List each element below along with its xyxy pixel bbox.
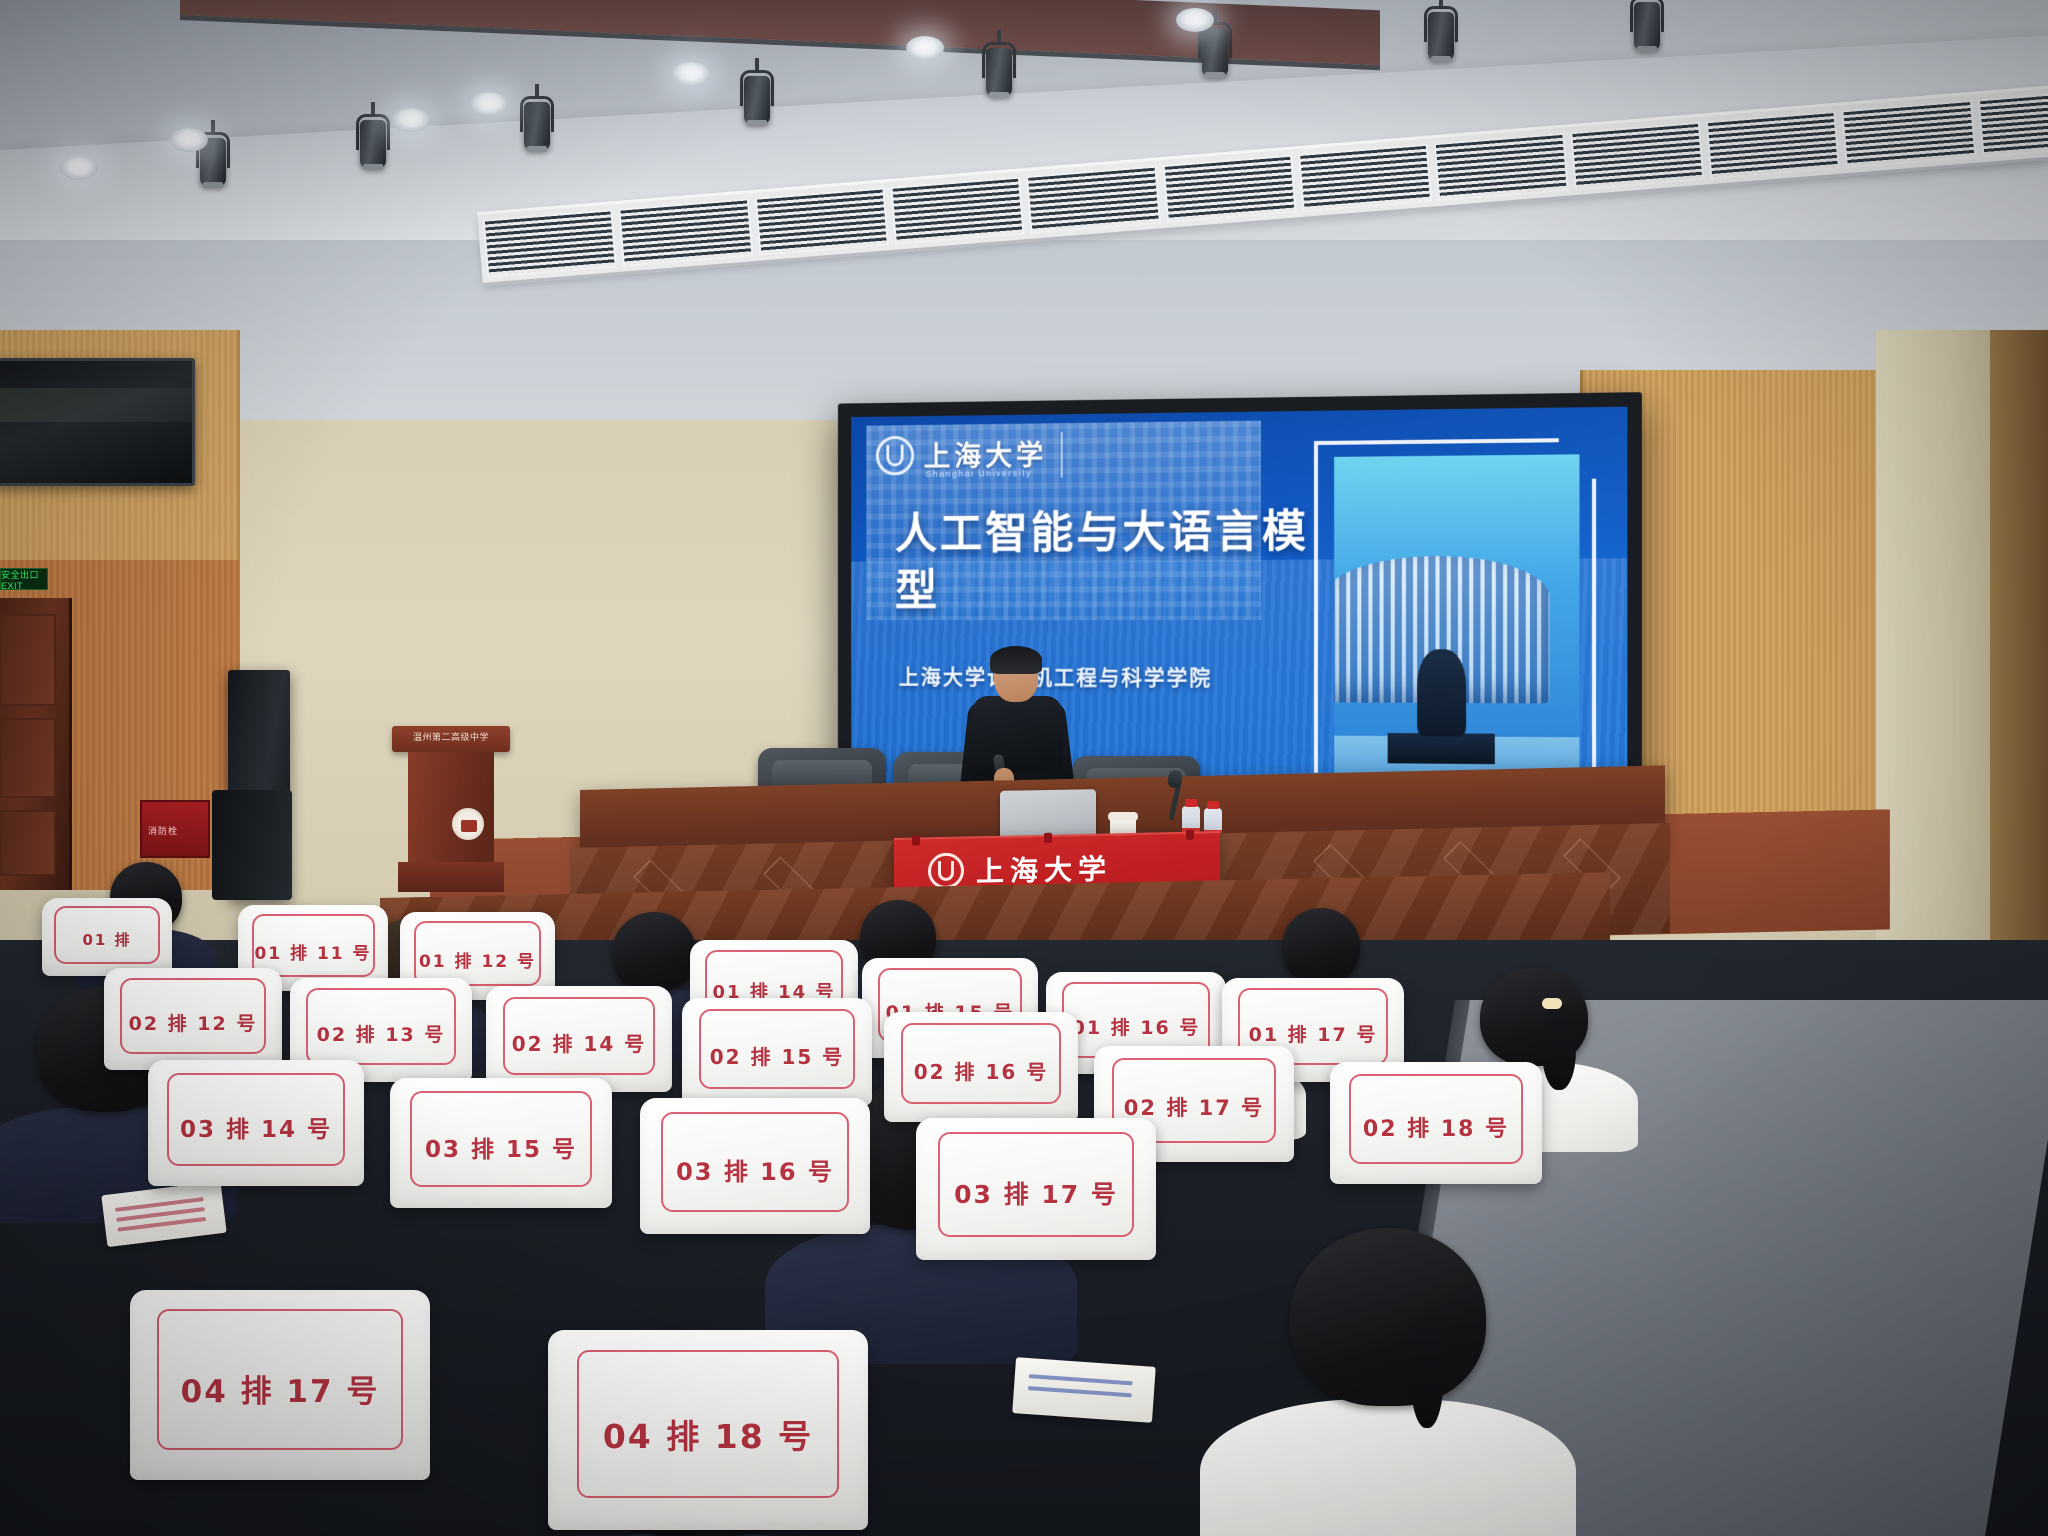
seat-number-label: 02 排 15 号 (682, 1041, 872, 1070)
audience-person (612, 912, 696, 992)
auditorium-seat[interactable]: 03 排 14 号 (148, 1060, 364, 1186)
stage-spotlight-icon (1630, 0, 1664, 54)
audience-person (1282, 908, 1360, 984)
auditorium-seat[interactable]: 04 排 18 号 (548, 1330, 868, 1530)
ceiling-downlight-icon (470, 92, 508, 116)
lectern: 温州第二高级中学 (392, 726, 510, 896)
seat-cover: 03 排 17 号 (916, 1118, 1156, 1260)
pa-subwoofer (212, 790, 292, 900)
stage-spotlight-icon (520, 92, 554, 154)
shanghai-university-logo-icon (876, 436, 914, 476)
ceiling-downlight-icon (672, 62, 710, 86)
auditorium-seat[interactable]: 02 排 18 号 (1330, 1062, 1542, 1184)
seat-number-label: 03 排 15 号 (390, 1130, 612, 1164)
stage-spotlight-icon (982, 38, 1016, 100)
auditorium-seat[interactable]: 02 排 14 号 (486, 986, 672, 1092)
slide-title: 人工智能与大语言模型 (895, 503, 1316, 620)
ceiling-downlight-icon (1176, 8, 1214, 32)
right-far-wall (1990, 330, 2048, 1030)
seat-number-label: 02 排 14 号 (486, 1028, 672, 1057)
seat-cover: 02 排 15 号 (682, 998, 872, 1106)
auditorium-seat[interactable]: 03 排 16 号 (640, 1098, 870, 1234)
auditorium-seat[interactable]: 02 排 15 号 (682, 998, 872, 1106)
ceiling-downlight-icon (60, 156, 98, 180)
ceiling-downlight-icon (392, 108, 430, 132)
stage-spotlight-icon (356, 110, 390, 172)
seat-number-label: 01 排 17 号 (1222, 1020, 1404, 1047)
auditorium-seat[interactable]: 04 排 17 号 (130, 1290, 430, 1480)
school-emblem-icon (452, 808, 484, 840)
seat-cover: 02 排 16 号 (884, 1012, 1078, 1122)
seat-cover: 04 排 17 号 (130, 1290, 430, 1480)
fire-hose-cabinet: 消防栓 (140, 800, 210, 858)
stage-spotlight-icon (740, 66, 774, 128)
auditorium-seat[interactable]: 03 排 17 号 (916, 1118, 1156, 1260)
seat-number-label: 02 排 16 号 (884, 1056, 1078, 1085)
seat-cover: 03 排 15 号 (390, 1078, 612, 1208)
lectern-school-name: 温州第二高级中学 (400, 730, 502, 743)
seat-cover: 03 排 14 号 (148, 1060, 364, 1186)
slide-org-name-en: Shanghai University (926, 468, 1032, 479)
seat-number-label: 01 排 11 号 (238, 939, 388, 964)
wall-monitor-display (0, 358, 195, 486)
right-pillar (1876, 330, 1996, 1030)
seat-number-label: 02 排 18 号 (1330, 1111, 1542, 1143)
ceiling-downlight-icon (906, 36, 944, 60)
seat-cover: 04 排 18 号 (548, 1330, 868, 1530)
seat-number-label: 02 排 13 号 (290, 1020, 472, 1047)
seat-number-label: 01 排 12 号 (400, 947, 555, 972)
seat-number-label: 03 排 14 号 (148, 1110, 364, 1144)
handout-paper (1012, 1357, 1156, 1423)
seat-cover: 02 排 12 号 (104, 968, 282, 1070)
seat-number-label: 02 排 12 号 (104, 1009, 282, 1036)
seat-number-label: 03 排 17 号 (916, 1175, 1156, 1211)
ceiling-downlight-icon (170, 128, 208, 152)
seat-cover: 03 排 16 号 (640, 1098, 870, 1234)
auditorium-seat[interactable]: 01 排 (42, 898, 172, 976)
audience-person (1480, 968, 1588, 1066)
seat-cover: 02 排 18 号 (1330, 1062, 1542, 1184)
exit-sign: 安全出口 EXIT (0, 568, 48, 590)
auditorium-seat[interactable]: 03 排 15 号 (390, 1078, 612, 1208)
seat-number-label: 04 排 17 号 (130, 1366, 430, 1411)
seat-cover: 01 排 (42, 898, 172, 976)
slide-frame-decoration-2 (1350, 479, 1596, 816)
slide-logo-divider (1061, 432, 1063, 478)
banner-logo-icon (928, 853, 964, 890)
stage-spotlight-icon (1424, 2, 1458, 64)
audience-person (1290, 1228, 1486, 1406)
auditorium-seat[interactable]: 02 排 16 号 (884, 1012, 1078, 1122)
seat-number-label: 04 排 18 号 (548, 1410, 868, 1458)
seat-number-label: 03 排 16 号 (640, 1152, 870, 1187)
auditorium-seat[interactable]: 02 排 12 号 (104, 968, 282, 1070)
seat-cover: 02 排 14 号 (486, 986, 672, 1092)
lecture-hall-photo: 安全出口 EXIT 消防栓 上海大学 Shanghai University 人… (0, 0, 2048, 1536)
fire-box-label: 消防栓 (148, 824, 178, 837)
seat-number-label: 01 排 (42, 929, 172, 950)
side-door[interactable] (0, 598, 72, 890)
